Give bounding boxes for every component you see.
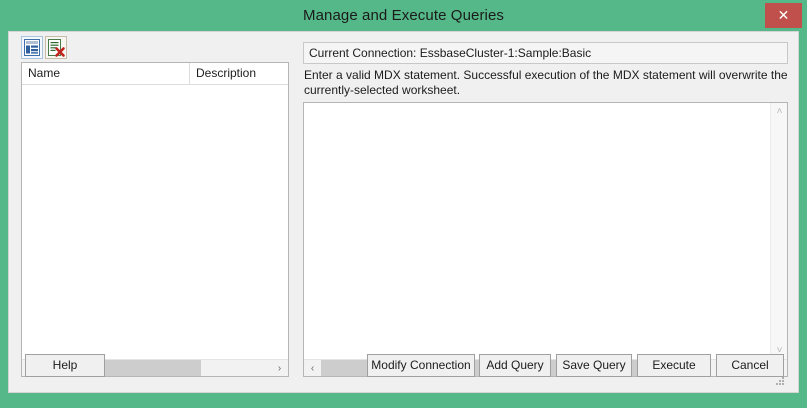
- new-query-icon[interactable]: [21, 36, 43, 59]
- mdx-vscrollbar[interactable]: ˄ ˅: [770, 103, 787, 359]
- scroll-left-icon[interactable]: ‹: [304, 360, 321, 377]
- column-header-name[interactable]: Name: [22, 63, 190, 84]
- query-list-header: Name Description: [22, 63, 288, 85]
- scroll-up-icon[interactable]: ˄: [771, 103, 788, 120]
- page-title: Manage and Execute Queries: [0, 0, 807, 31]
- dialog-window: Manage and Execute Queries ✕: [0, 0, 807, 408]
- cancel-button[interactable]: Cancel: [716, 354, 784, 377]
- execute-button[interactable]: Execute: [637, 354, 711, 377]
- dialog-body: Name Description ‹ › Current Connection:…: [8, 31, 799, 393]
- mdx-statement-input[interactable]: [304, 103, 770, 359]
- mdx-vscroll-track[interactable]: [771, 120, 787, 342]
- delete-query-icon[interactable]: [45, 36, 67, 59]
- query-list-rows[interactable]: [22, 85, 288, 359]
- query-list-panel[interactable]: Name Description ‹ ›: [21, 62, 289, 377]
- add-query-button[interactable]: Add Query: [479, 354, 551, 377]
- resize-grip[interactable]: [776, 377, 786, 387]
- modify-connection-button[interactable]: Modify Connection: [367, 354, 475, 377]
- current-connection-field: Current Connection: EssbaseCluster-1:Sam…: [303, 42, 788, 64]
- scroll-right-icon[interactable]: ›: [271, 360, 288, 377]
- mdx-editor-panel[interactable]: ˄ ˅ ‹ ›: [303, 102, 788, 377]
- instructions-text: Enter a valid MDX statement. Successful …: [304, 68, 788, 98]
- close-button[interactable]: ✕: [765, 3, 802, 28]
- column-header-description[interactable]: Description: [190, 63, 288, 84]
- help-button[interactable]: Help: [25, 354, 105, 377]
- title-bar: Manage and Execute Queries ✕: [0, 0, 807, 31]
- query-toolbar: [21, 36, 69, 61]
- save-query-button[interactable]: Save Query: [556, 354, 632, 377]
